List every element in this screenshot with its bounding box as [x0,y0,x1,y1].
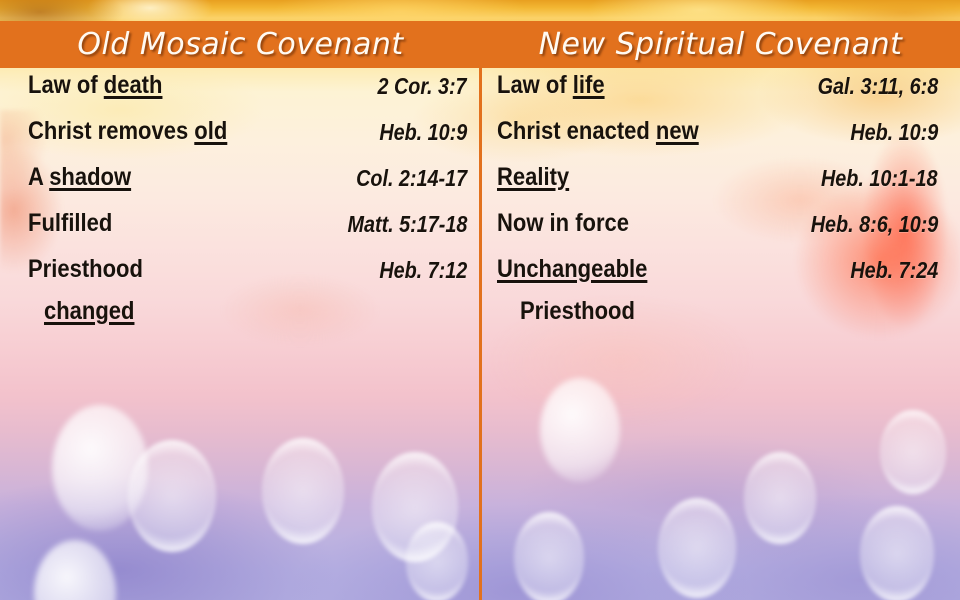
row-phrase: Fulfilled [28,206,112,240]
bokeh-circle [860,506,934,600]
bokeh-circle [880,410,946,494]
phrase-underlined: life [573,71,605,99]
table-row: Law of life Gal. 3:11, 6:8 [482,68,960,114]
bokeh-circle [514,512,584,600]
row-reference: Gal. 3:11, 6:8 [817,69,938,103]
phrase-underlined: shadow [49,163,131,191]
phrase-plain: Christ enacted [497,117,656,145]
phrase-plain: Law of [497,71,573,99]
row-reference: Heb. 10:9 [850,115,938,149]
column-title-new: New Spiritual Covenant [481,21,960,68]
row-phrase: Priesthood [28,252,143,286]
row-phrase: Now in force [497,206,629,240]
row-phrase: Law of life [497,68,605,102]
row-phrase-second-line: Priesthood [520,294,635,328]
phrase-underlined: old [194,117,227,145]
table-row: Christ removes old Heb. 10:9 [0,114,479,160]
row-phrase: Christ enacted new [497,114,699,148]
table-row: Unchangeable Priesthood Heb. 7:24 [482,252,960,298]
table-row: Priesthood changed Heb. 7:12 [0,252,479,298]
slide-canvas: Old Mosaic Covenant New Spiritual Covena… [0,0,960,600]
bokeh-circle [744,452,816,544]
column-new-spiritual-covenant: Law of life Gal. 3:11, 6:8 Christ enacte… [482,68,960,368]
row-phrase: Reality [497,160,569,194]
row-reference: Heb. 10:1-18 [821,161,938,195]
phrase-underlined: Unchangeable [497,255,647,283]
phrase-plain: Christ removes [28,117,194,145]
column-title-old: Old Mosaic Covenant [0,21,481,68]
row-phrase: Law of death [28,68,162,102]
phrase-plain: Priesthood [28,255,143,283]
row-reference: Heb. 7:12 [379,253,467,287]
bokeh-circle [262,438,344,544]
row-phrase: Unchangeable [497,252,647,286]
row-reference: Heb. 10:9 [379,115,467,149]
phrase-underlined: new [656,117,699,145]
phrase-underlined: Reality [497,163,569,191]
table-row: Reality Heb. 10:1-18 [482,160,960,206]
table-row: A shadow Col. 2:14-17 [0,160,479,206]
phrase-underlined: death [104,71,163,99]
row-reference: Matt. 5:17-18 [347,207,467,241]
bokeh-circle [540,378,620,482]
column-old-mosaic-covenant: Law of death 2 Cor. 3:7 Christ removes o… [0,68,479,368]
row-phrase-second-line: changed [44,294,134,328]
phrase-plain: Fulfilled [28,209,112,237]
table-row: Christ enacted new Heb. 10:9 [482,114,960,160]
phrase-plain: Now in force [497,209,629,237]
row-phrase: Christ removes old [28,114,227,148]
row-reference: 2 Cor. 3:7 [378,69,467,103]
row-phrase: A shadow [28,160,131,194]
row-reference: Heb. 7:24 [850,253,938,287]
row-reference: Col. 2:14-17 [356,161,467,195]
phrase-plain: Law of [28,71,104,99]
bokeh-circle [406,522,468,600]
table-row: Now in force Heb. 8:6, 10:9 [482,206,960,252]
bokeh-circle [128,440,216,552]
bokeh-circle [658,498,736,598]
table-row: Fulfilled Matt. 5:17-18 [0,206,479,252]
table-row: Law of death 2 Cor. 3:7 [0,68,479,114]
phrase-plain: A [28,163,49,191]
row-reference: Heb. 8:6, 10:9 [810,207,938,241]
